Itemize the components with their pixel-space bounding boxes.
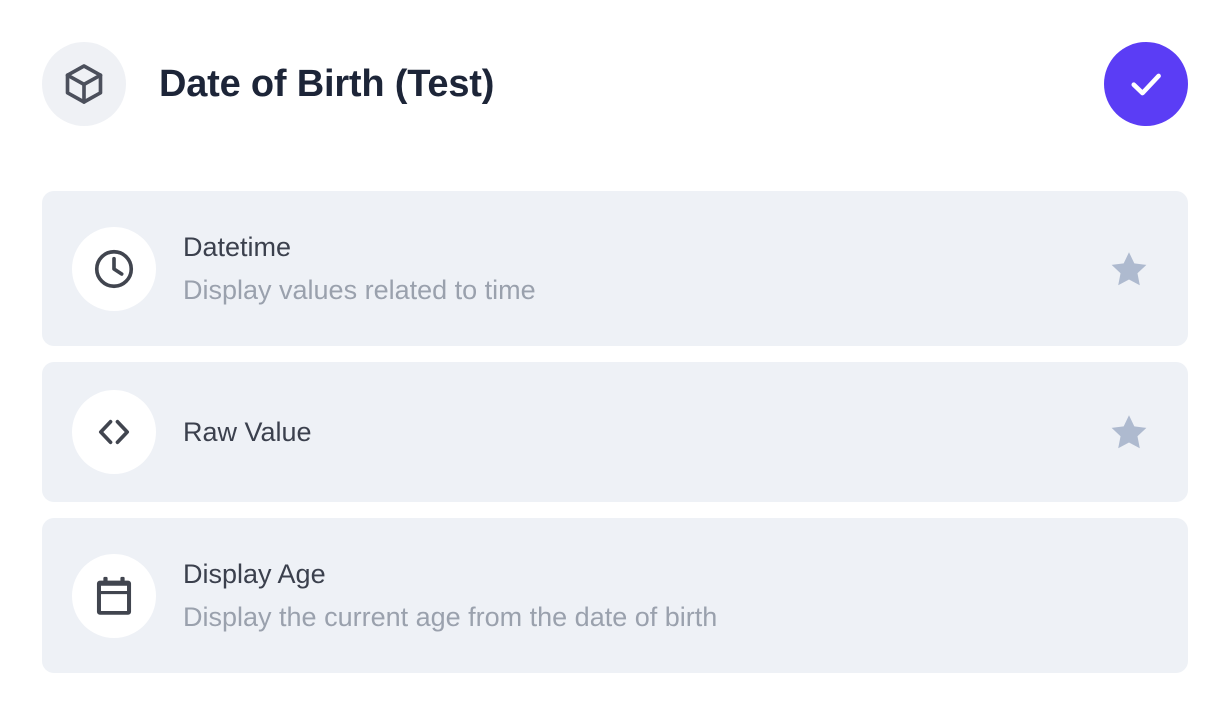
option-row-display-age[interactable]: Display Age Display the current age from…: [42, 518, 1188, 673]
page-root: Date of Birth (Test) Datetime Display va…: [0, 0, 1216, 704]
star-icon[interactable]: [1110, 251, 1148, 287]
option-row-raw-value[interactable]: Raw Value: [42, 362, 1188, 502]
star-icon[interactable]: [1110, 414, 1148, 450]
cube-icon: [42, 42, 126, 126]
option-text: Raw Value: [183, 416, 312, 449]
option-description: Display values related to time: [183, 275, 536, 307]
clock-icon: [72, 227, 156, 311]
calendar-icon: [72, 554, 156, 638]
option-title: Datetime: [183, 231, 536, 264]
page-header: Date of Birth (Test): [42, 38, 1188, 130]
page-title: Date of Birth (Test): [159, 65, 494, 103]
option-title: Display Age: [183, 558, 717, 591]
option-description: Display the current age from the date of…: [183, 602, 717, 634]
confirm-button[interactable]: [1104, 42, 1188, 126]
option-title: Raw Value: [183, 416, 312, 449]
options-list: Datetime Display values related to time …: [42, 191, 1188, 673]
check-icon: [1125, 63, 1167, 105]
option-text: Display Age Display the current age from…: [183, 558, 717, 634]
option-text: Datetime Display values related to time: [183, 231, 536, 307]
option-row-datetime[interactable]: Datetime Display values related to time: [42, 191, 1188, 346]
code-brackets-icon: [72, 390, 156, 474]
